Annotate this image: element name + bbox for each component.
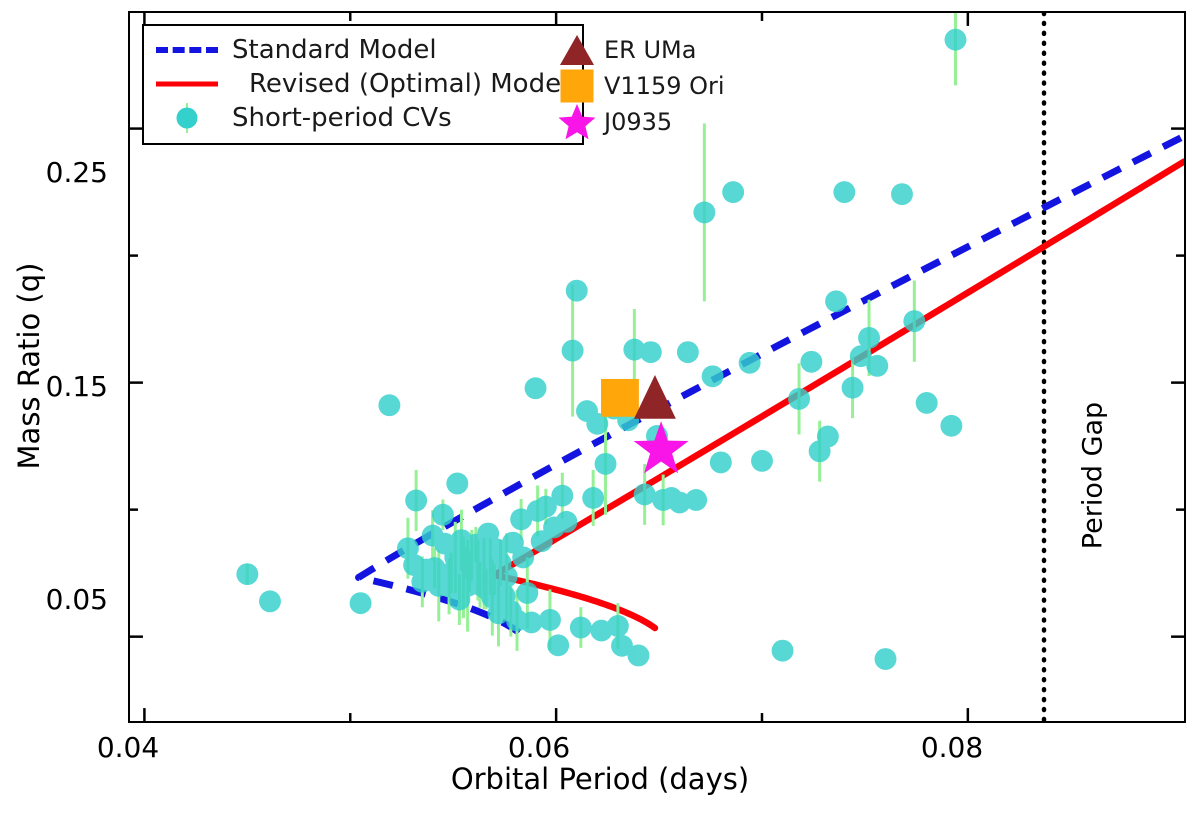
cv-point-91 — [833, 181, 855, 203]
cv-point-85 — [772, 640, 794, 662]
cv-point-100 — [940, 415, 962, 437]
cv-point-78 — [685, 489, 707, 511]
legend-label-short-period-cvs: Short-period CVs — [232, 103, 452, 133]
xtick-label-0: 0.04 — [78, 731, 178, 764]
cv-point-59 — [570, 617, 592, 639]
cv-point-95 — [866, 355, 888, 377]
cv-point-71 — [634, 483, 656, 505]
legend-label-revised-model: Revised (Optimal) Model — [232, 69, 568, 99]
er-uma-marker — [634, 375, 676, 419]
cv-point-52 — [539, 609, 561, 631]
legend-objects: ER UMa V1159 Ori J0935 — [556, 32, 786, 140]
cv-point-86 — [788, 388, 810, 410]
xtick-label-2: 0.08 — [902, 731, 1002, 764]
cv-point-87 — [800, 351, 822, 373]
magenta-star-icon — [556, 104, 598, 140]
cv-point-90 — [825, 290, 847, 312]
cv-point-61 — [582, 487, 604, 509]
x-axis-title: Orbital Period (days) — [0, 762, 1200, 796]
cv-point-46 — [516, 582, 538, 604]
cv-point-79 — [693, 201, 715, 223]
cv-point-6 — [405, 490, 427, 512]
legend-label-standard-model: Standard Model — [232, 35, 437, 65]
cv-point-40 — [496, 566, 518, 588]
cyan-circle-errorbar-icon — [156, 103, 218, 133]
cv-point-0 — [236, 563, 258, 585]
legend-main: Standard Model Revised (Optimal) Model S… — [142, 24, 584, 145]
ytick-label-2: 0.05 — [8, 583, 108, 616]
cv-point-70 — [628, 645, 650, 667]
xtick-label-1: 0.06 — [489, 731, 589, 764]
cv-point-47 — [520, 611, 542, 633]
cv-point-92 — [842, 377, 864, 399]
cv-point-99 — [916, 392, 938, 414]
cv-point-12 — [432, 504, 454, 526]
legend-item-short-period-cvs: Short-period CVs — [156, 101, 568, 135]
cv-point-2 — [350, 592, 372, 614]
cv-point-81 — [710, 451, 732, 473]
cv-point-56 — [555, 511, 577, 533]
legend-item-v1159-ori: V1159 Ori — [556, 68, 786, 104]
cv-point-77 — [677, 341, 699, 363]
cv-point-82 — [722, 181, 744, 203]
cv-point-89 — [817, 426, 839, 448]
legend-item-er-uma: ER UMa — [556, 32, 786, 68]
cv-point-58 — [566, 280, 588, 302]
v1159-ori-marker — [601, 379, 639, 417]
cv-point-80 — [702, 365, 724, 387]
legend-item-j0935: J0935 — [556, 104, 786, 140]
cv-point-84 — [751, 450, 773, 472]
cv-point-101 — [945, 29, 967, 51]
cv-point-96 — [875, 648, 897, 670]
legend-item-revised-model: Revised (Optimal) Model — [156, 67, 568, 101]
cv-point-83 — [739, 352, 761, 374]
period-gap-annotation: Period Gap — [1078, 361, 1109, 591]
cv-point-98 — [903, 310, 925, 332]
cv-point-45 — [512, 546, 534, 568]
dashed-blue-line-icon — [156, 35, 218, 65]
cv-point-64 — [595, 453, 617, 475]
cv-point-54 — [547, 634, 569, 656]
cv-point-97 — [891, 183, 913, 205]
cv-point-1 — [259, 590, 281, 612]
cv-point-72 — [640, 341, 662, 363]
cv-point-3 — [378, 394, 400, 416]
figure-root: 0.25 0.15 0.05 0.04 0.06 0.08 Orbital Pe… — [0, 0, 1200, 815]
dark-red-triangle-icon — [556, 32, 598, 68]
legend-label-j0935: J0935 — [604, 108, 672, 136]
cv-point-66 — [607, 615, 629, 637]
cv-point-48 — [525, 377, 547, 399]
y-axis-title: Mass Ratio (q) — [12, 146, 46, 586]
legend-item-standard-model: Standard Model — [156, 33, 568, 67]
orange-square-icon — [556, 68, 598, 104]
cv-point-55 — [551, 485, 573, 507]
cv-point-94 — [858, 327, 880, 349]
legend-label-er-uma: ER UMa — [604, 36, 696, 64]
cv-point-17 — [446, 473, 468, 495]
solid-red-line-icon — [156, 69, 218, 99]
legend-label-v1159-ori: V1159 Ori — [604, 72, 725, 100]
cv-point-57 — [562, 340, 584, 362]
